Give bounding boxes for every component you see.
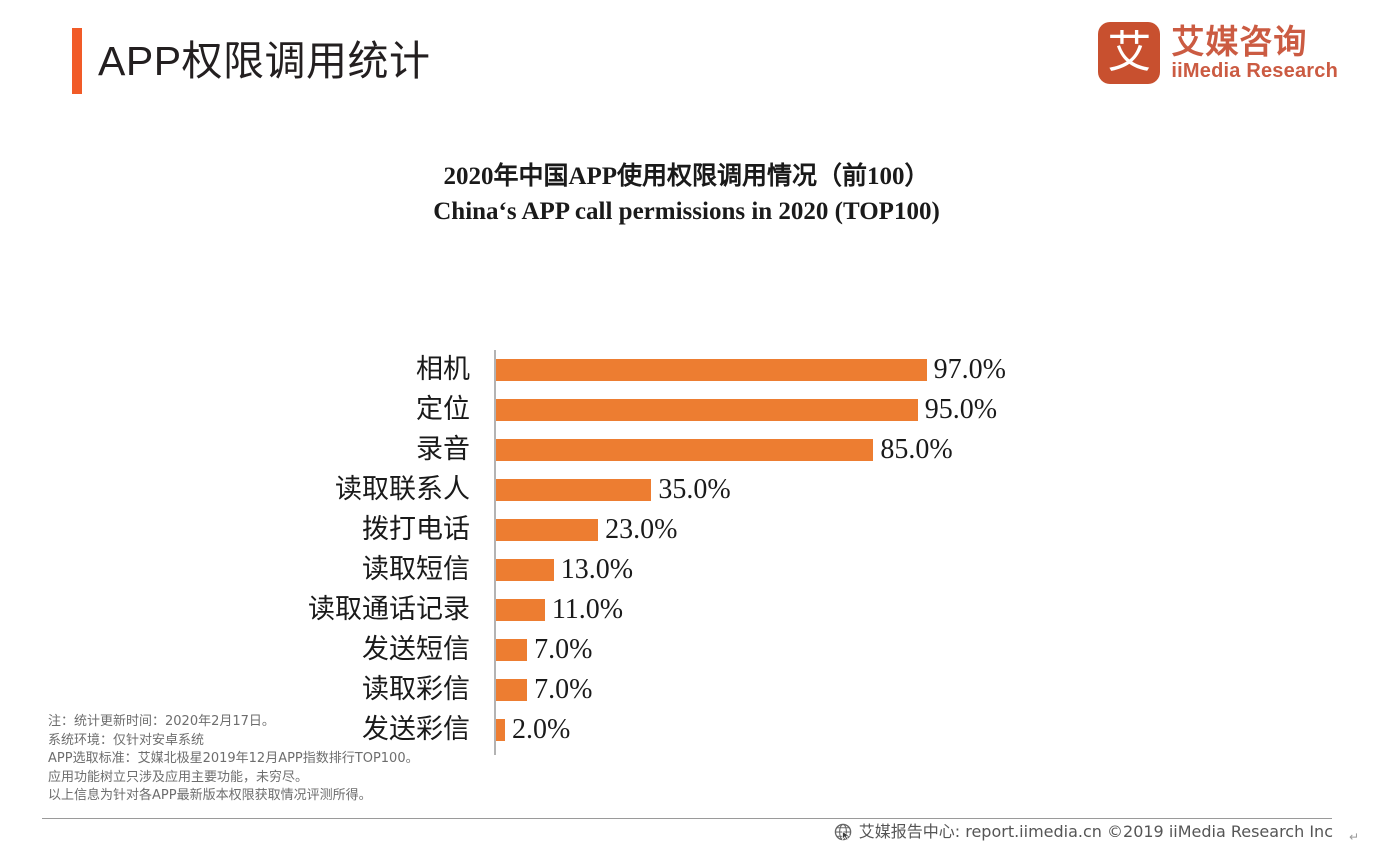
category-label: 拨打电话 (0, 510, 470, 550)
bar (496, 359, 927, 381)
bar-value-label: 7.0% (534, 630, 592, 670)
iimedia-logo-icon: 艾 (1098, 22, 1160, 84)
brand-logo: 艾 艾媒咨询 iiMedia Research (1098, 22, 1338, 84)
category-label: 录音 (0, 430, 470, 470)
logo-glyph: 艾 (1098, 22, 1160, 84)
bar (496, 599, 545, 621)
page-title: APP权限调用统计 (98, 30, 431, 92)
category-label: 发送短信 (0, 630, 470, 670)
footer: 艾媒报告中心: report.iimedia.cn ©2019 iiMedia … (834, 821, 1333, 843)
bar-row: 读取短信13.0% (0, 550, 1373, 590)
bar-value-label: 23.0% (605, 510, 677, 550)
page-header: APP权限调用统计 艾 艾媒咨询 iiMedia Research (0, 0, 1373, 120)
footnote-line: 应用功能树立只涉及应用主要功能，未穷尽。 (48, 769, 948, 788)
bar-value-label: 7.0% (534, 670, 592, 710)
bar-value-label: 97.0% (934, 350, 1006, 390)
footnote-line: 注：统计更新时间：2020年2月17日。 (48, 713, 948, 732)
footnotes: 注：统计更新时间：2020年2月17日。系统环境：仅针对安卓系统APP选取标准：… (48, 713, 948, 806)
chart-subtitle: China‘s APP call permissions in 2020 (TO… (0, 194, 1373, 230)
chart-title: 2020年中国APP使用权限调用情况（前100） (0, 160, 1373, 194)
bar (496, 439, 873, 461)
bar-row: 读取彩信7.0% (0, 670, 1373, 710)
category-label: 相机 (0, 350, 470, 390)
category-label: 读取联系人 (0, 470, 470, 510)
bar-row: 读取联系人35.0% (0, 470, 1373, 510)
bar-row: 发送短信7.0% (0, 630, 1373, 670)
category-label: 读取通话记录 (0, 590, 470, 630)
brand-name-cn: 艾媒咨询 (1171, 24, 1338, 60)
bar-row: 拨打电话23.0% (0, 510, 1373, 550)
chart-container: 2020年中国APP使用权限调用情况（前100） China‘s APP cal… (0, 160, 1373, 658)
edit-mark: ↵ (1349, 830, 1359, 844)
bar-row: 读取通话记录11.0% (0, 590, 1373, 630)
bar (496, 399, 918, 421)
bar-value-label: 11.0% (552, 590, 623, 630)
footnote-line: APP选取标准：艾媒北极星2019年12月APP指数排行TOP100。 (48, 750, 948, 769)
category-label: 读取短信 (0, 550, 470, 590)
brand-text: 艾媒咨询 iiMedia Research (1171, 24, 1338, 83)
footnote-line: 系统环境：仅针对安卓系统 (48, 732, 948, 751)
bar-value-label: 85.0% (880, 430, 952, 470)
bar-value-label: 35.0% (658, 470, 730, 510)
bar-row: 录音85.0% (0, 430, 1373, 470)
footer-text: 艾媒报告中心: report.iimedia.cn ©2019 iiMedia … (859, 821, 1333, 843)
globe-cursor-icon (834, 823, 853, 842)
category-label: 定位 (0, 390, 470, 430)
slide-page: APP权限调用统计 艾 艾媒咨询 iiMedia Research 2020年中… (0, 0, 1373, 848)
bar (496, 639, 527, 661)
bar (496, 679, 527, 701)
bar-value-label: 13.0% (561, 550, 633, 590)
footnote-line: 以上信息为针对各APP最新版本权限获取情况评测所得。 (48, 787, 948, 806)
bar (496, 519, 598, 541)
bar-value-label: 95.0% (925, 390, 997, 430)
footer-divider (42, 818, 1332, 819)
category-label: 读取彩信 (0, 670, 470, 710)
bar-row: 定位95.0% (0, 390, 1373, 430)
bar (496, 479, 651, 501)
brand-name-en: iiMedia Research (1171, 60, 1338, 83)
title-accent-bar (72, 28, 82, 94)
bar-chart-plot: 相机97.0%定位95.0%录音85.0%读取联系人35.0%拨打电话23.0%… (0, 248, 1373, 658)
bar (496, 559, 554, 581)
bar-row: 相机97.0% (0, 350, 1373, 390)
